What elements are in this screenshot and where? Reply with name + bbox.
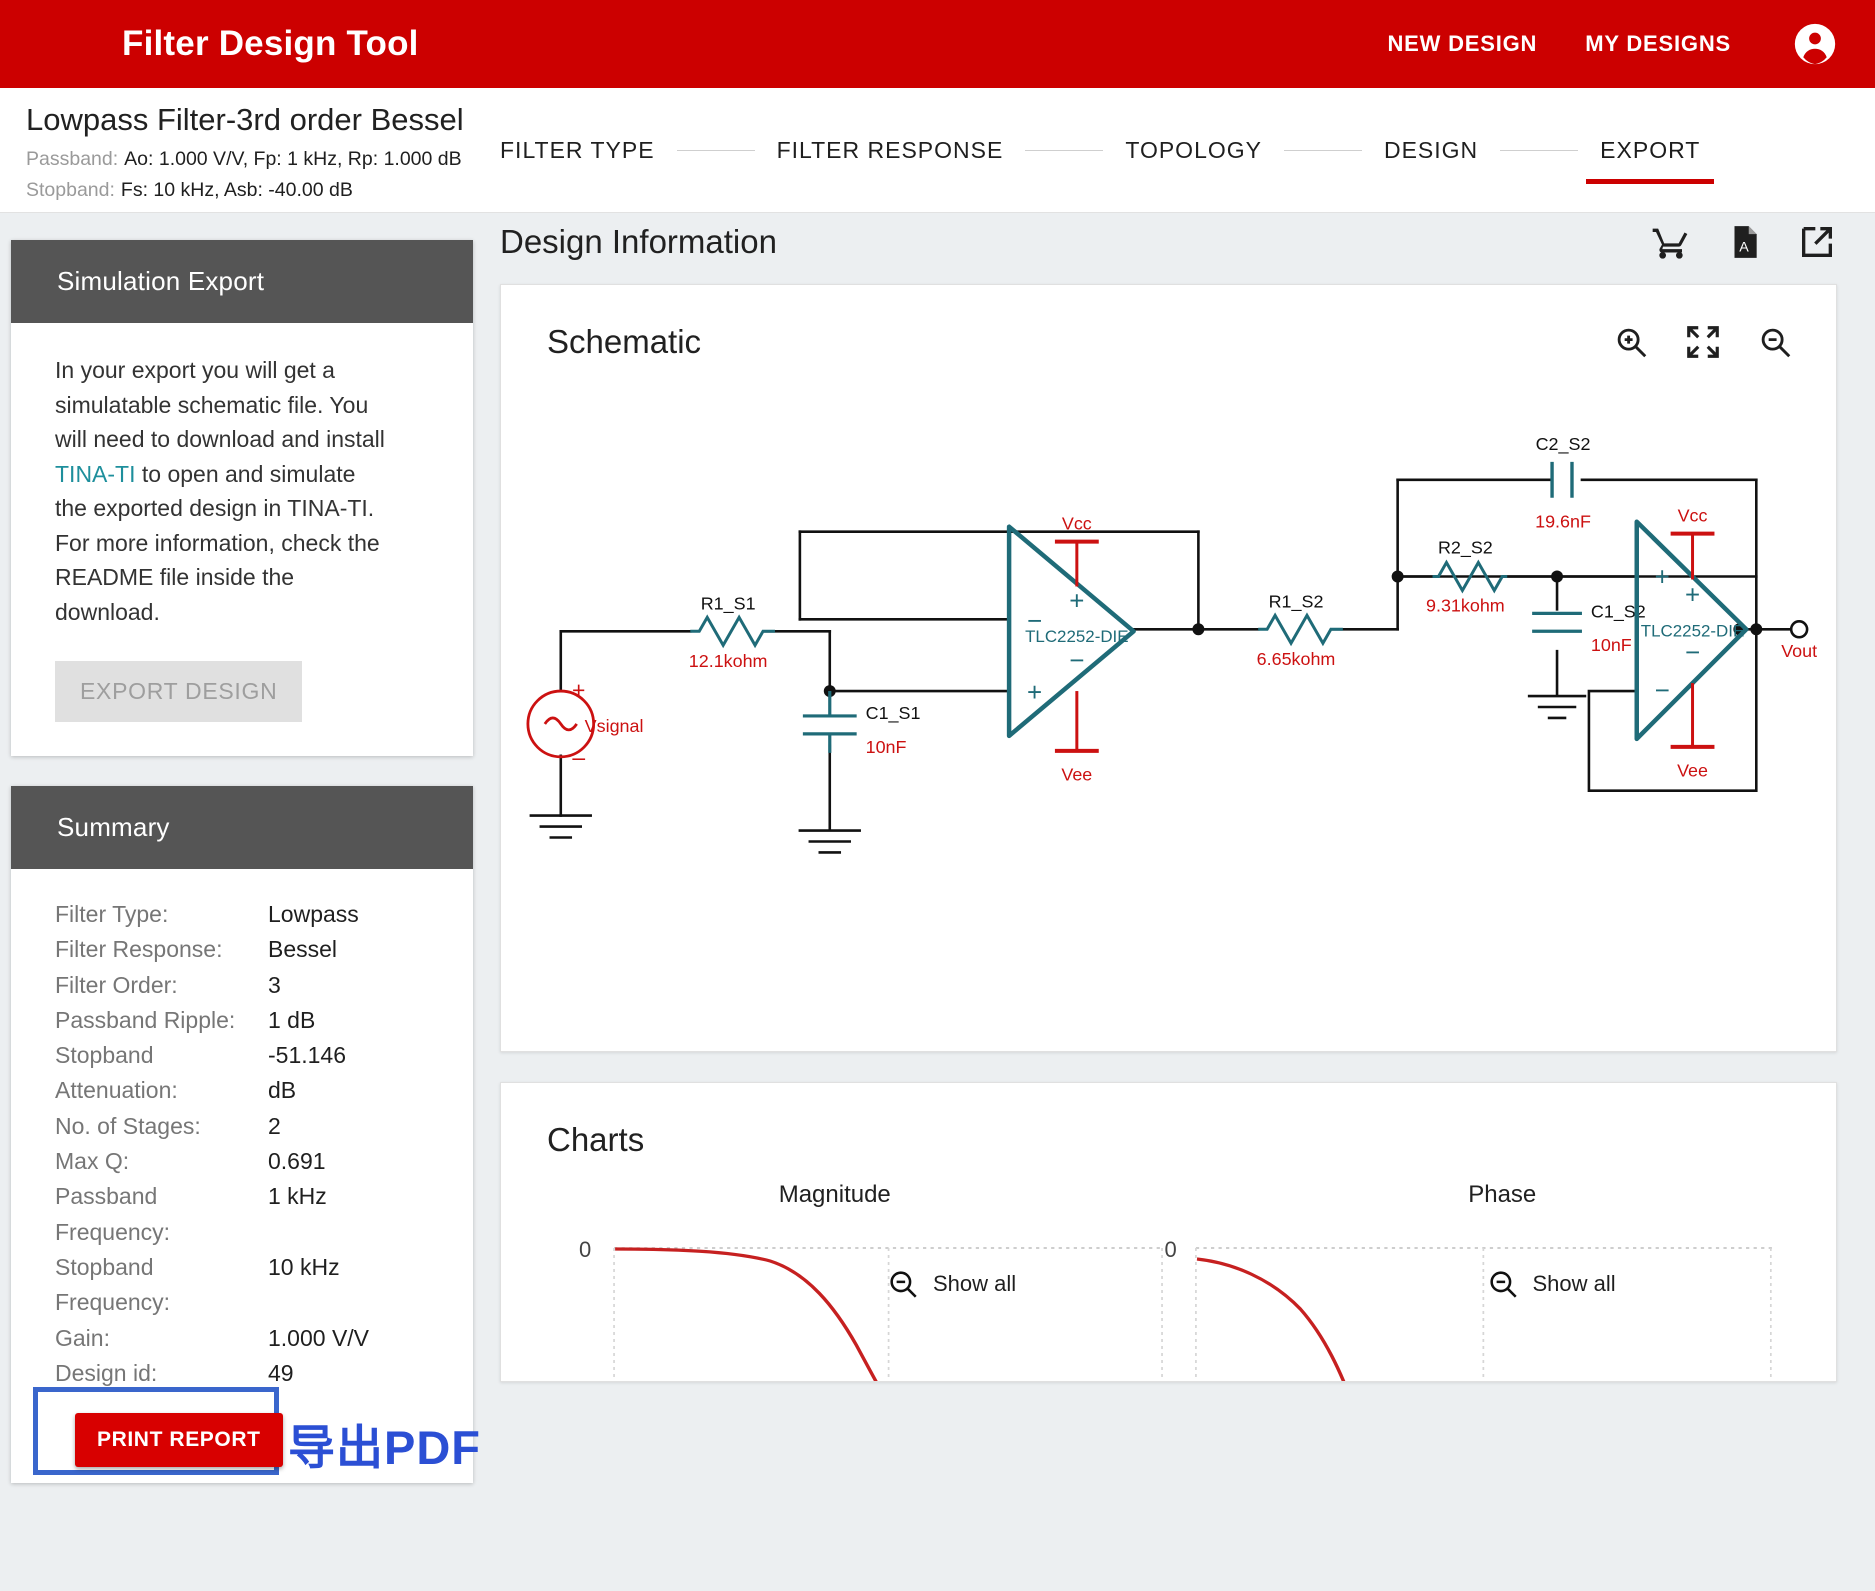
vee2-label: Vee [1677,761,1708,781]
export-pdf-annotation: 导出PDF [288,1409,481,1478]
summary-value: -51.146 [268,1038,346,1073]
schematic-panel: Schematic [500,284,1837,1052]
summary-row: Stopband-51.146 [55,1038,429,1073]
svg-text:+: + [1685,581,1700,609]
step-design[interactable]: DESIGN [1384,137,1478,164]
r1-s1-name: R1_S1 [701,593,756,614]
simulation-export-card: Simulation Export In your export you wil… [11,240,473,756]
summary-key: Passband Ripple: [55,1003,268,1038]
vsignal-source: Vsignal + – [528,677,644,770]
charts-row: Magnitude 0 Show all [501,1181,1836,1382]
schematic-drawing: Vsignal + – R1_S1 12.1kohm C1_S1 [501,361,1836,1051]
r2-s2-name: R2_S2 [1438,538,1493,559]
chart-phase-plot[interactable]: 0 Show all [1169,1245,1837,1382]
step-separator [1500,150,1578,151]
vee1-label: Vee [1061,765,1092,785]
summary-key: Filter Type: [55,897,268,932]
summary-key: Max Q: [55,1144,268,1179]
charts-title: Charts [547,1121,644,1159]
r1-s2-name: R1_S2 [1269,591,1324,612]
passband-spec: Passband:Ao: 1.000 V/V, Fp: 1 kHz, Rp: 1… [26,148,462,171]
chart-phase-ytick-0: 0 [1165,1237,1177,1263]
pdf-file-icon[interactable]: A [1725,222,1763,262]
design-subheader: Lowpass Filter-3rd order Bessel Passband… [0,88,1875,213]
summary-row: Passband Ripple:1 dB [55,1003,429,1038]
svg-text:+: + [572,677,585,703]
summary-row: Frequency: [55,1285,429,1320]
summary-row: Attenuation:dB [55,1073,429,1108]
summary-key: Filter Order: [55,968,268,1003]
r1-s2-value: 6.65kohm [1257,649,1336,669]
app-brand-title: Filter Design Tool [122,24,419,64]
r1-s1-resistor: R1_S1 12.1kohm [689,593,775,671]
summary-row: Stopband10 kHz [55,1250,429,1285]
account-circle-icon[interactable] [1793,22,1837,66]
shopping-cart-icon[interactable] [1651,222,1691,262]
stopband-label: Stopband: [26,179,115,201]
schematic-header: Schematic [501,285,1836,361]
summary-value: 0.691 [268,1144,326,1179]
svg-text:A: A [1739,240,1749,256]
charts-panel: Charts Magnitude 0 [500,1082,1837,1382]
step-topology[interactable]: TOPOLOGY [1125,137,1262,164]
summary-row: Max Q:0.691 [55,1144,429,1179]
summary-key: Attenuation: [55,1073,268,1108]
step-filter-response[interactable]: FILTER RESPONSE [777,137,1004,164]
summary-row: Filter Order:3 [55,968,429,1003]
summary-row: Gain:1.000 V/V [55,1321,429,1356]
export-desc-part1: In your export you will get a simulatabl… [55,357,385,452]
passband-label: Passband: [26,148,118,170]
fullscreen-icon[interactable] [1684,323,1722,361]
summary-key: Frequency: [55,1215,268,1250]
summary-key: Gain: [55,1321,268,1356]
step-separator [1284,150,1362,151]
chart-phase-svg [1169,1245,1837,1382]
summary-value: dB [268,1073,296,1108]
svg-text:–: – [572,744,585,770]
schematic-tools [1612,323,1794,361]
summary-key: Filter Response: [55,932,268,967]
step-export[interactable]: EXPORT [1600,137,1700,164]
simulation-export-title: Simulation Export [11,240,473,323]
summary-value: 1 kHz [268,1179,327,1214]
summary-value: Lowpass [268,897,359,932]
chart-magnitude-ytick-0: 0 [579,1237,591,1263]
summary-rows: Filter Type:Lowpass Filter Response:Bess… [11,869,473,1391]
summary-title: Summary [11,786,473,869]
design-information-title: Design Information [500,223,777,261]
r1-s1-value: 12.1kohm [689,651,768,671]
summary-row: Filter Response:Bessel [55,932,429,967]
step-filter-type[interactable]: FILTER TYPE [500,137,655,164]
chart-magnitude-show-all-label: Show all [933,1271,1016,1297]
c1-s1-capacitor: C1_S1 10nF [803,685,921,757]
summary-key: Stopband [55,1250,268,1285]
chart-phase-show-all-label: Show all [1533,1271,1616,1297]
vout-label: Vout [1781,641,1817,661]
summary-value: 3 [268,968,281,1003]
vcc2-label: Vcc [1678,506,1708,526]
c2-s2-capacitor: C2_S2 19.6nF [1535,434,1591,532]
svg-text:−: − [1069,647,1084,675]
top-nav: NEW DESIGN MY DESIGNS [1363,21,1875,67]
summary-key: Stopband [55,1038,268,1073]
chart-phase-title: Phase [1169,1181,1837,1209]
left-sidebar: Simulation Export In your export you wil… [11,240,473,1483]
chart-phase: Phase 0 Show all [1169,1181,1837,1382]
print-report-area: PRINT REPORT 导出PDF [11,1391,473,1483]
vcc1-label: Vcc [1062,514,1092,534]
summary-value: Bessel [268,932,337,967]
tina-ti-link[interactable]: TINA-TI [55,461,136,487]
step-separator [1025,150,1103,151]
summary-value: 10 kHz [268,1250,340,1285]
simulation-export-description: In your export you will get a simulatabl… [55,353,385,629]
page-title: Lowpass Filter-3rd order Bessel [26,102,464,138]
chart-magnitude-show-all[interactable]: Show all [886,1267,1016,1301]
schematic-title: Schematic [547,323,701,361]
stopband-value: Fs: 10 kHz, Asb: -40.00 dB [121,179,353,201]
c2-s2-value: 19.6nF [1535,512,1591,532]
c1-s1-name: C1_S1 [866,703,921,724]
summary-value: 49 [268,1356,294,1391]
app-root: Filter Design Tool NEW DESIGN MY DESIGNS… [0,0,1875,1591]
main-content: Design Information A Schematic [490,200,1875,1591]
wizard-steps: FILTER TYPE FILTER RESPONSE TOPOLOGY DES… [500,88,1875,213]
print-report-button[interactable]: PRINT REPORT [75,1413,283,1467]
step-separator [677,150,755,151]
zoom-in-icon[interactable] [1612,323,1650,361]
opamp2-label: TLC2252-DIE [1641,621,1744,640]
opamp1-tlc2252: − + + − TLC2252-DIE Vcc Vee [1009,514,1134,785]
svg-text:+: + [1027,679,1042,707]
nav-my-designs[interactable]: MY DESIGNS [1561,21,1755,67]
summary-row: Design id:49 [55,1356,429,1391]
summary-row: No. of Stages:2 [55,1109,429,1144]
chart-phase-show-all[interactable]: Show all [1486,1267,1616,1301]
c1-s2-capacitor: C1_S2 10nF [1532,601,1646,655]
r2-s2-value: 9.31kohm [1426,595,1505,615]
passband-value: Ao: 1.000 V/V, Fp: 1 kHz, Rp: 1.000 dB [124,148,461,170]
summary-value: 2 [268,1109,281,1144]
svg-text:−: − [1655,677,1670,705]
open-in-new-icon[interactable] [1797,222,1837,262]
opamp1-label: TLC2252-DIE [1025,627,1128,646]
summary-key: No. of Stages: [55,1109,268,1144]
nav-new-design[interactable]: NEW DESIGN [1363,21,1561,67]
stopband-spec: Stopband:Fs: 10 kHz, Asb: -40.00 dB [26,179,353,202]
summary-key: Frequency: [55,1285,268,1320]
svg-text:+: + [1069,587,1084,615]
summary-card: Summary Filter Type:Lowpass Filter Respo… [11,786,473,1483]
top-app-bar: Filter Design Tool NEW DESIGN MY DESIGNS [0,0,1875,88]
chart-magnitude-svg [501,1245,1169,1382]
summary-row: Filter Type:Lowpass [55,897,429,932]
summary-row: Passband1 kHz [55,1179,429,1214]
charts-header: Charts [501,1083,1836,1159]
summary-value: 1.000 V/V [268,1321,369,1356]
r1-s2-resistor: R1_S2 6.65kohm [1257,591,1343,669]
simulation-export-body: In your export you will get a simulatabl… [11,323,473,756]
summary-row: Frequency: [55,1215,429,1250]
opamp2-tlc2252: + − + − TLC2252-DIE Vcc Vee [1637,506,1747,781]
c1-s2-value: 10nF [1591,635,1632,655]
c2-s2-name: C2_S2 [1536,434,1591,455]
svg-text:+: + [1655,563,1670,591]
schematic-canvas[interactable]: Vsignal + – R1_S1 12.1kohm C1_S1 [501,361,1836,1051]
svg-text:−: − [1685,639,1700,667]
summary-key: Passband [55,1179,268,1214]
chart-magnitude-plot[interactable]: 0 Show all [501,1245,1169,1382]
vsignal-label: Vsignal [585,716,644,736]
export-design-button[interactable]: EXPORT DESIGN [55,661,302,722]
chart-magnitude-title: Magnitude [501,1181,1169,1209]
design-information-actions: A [1651,222,1837,262]
zoom-out-icon[interactable] [1756,323,1794,361]
summary-value: 1 dB [268,1003,315,1038]
design-information-header: Design Information A [490,200,1875,284]
c1-s1-value: 10nF [866,737,907,757]
chart-magnitude: Magnitude 0 Show all [501,1181,1169,1382]
summary-key: Design id: [55,1356,268,1391]
